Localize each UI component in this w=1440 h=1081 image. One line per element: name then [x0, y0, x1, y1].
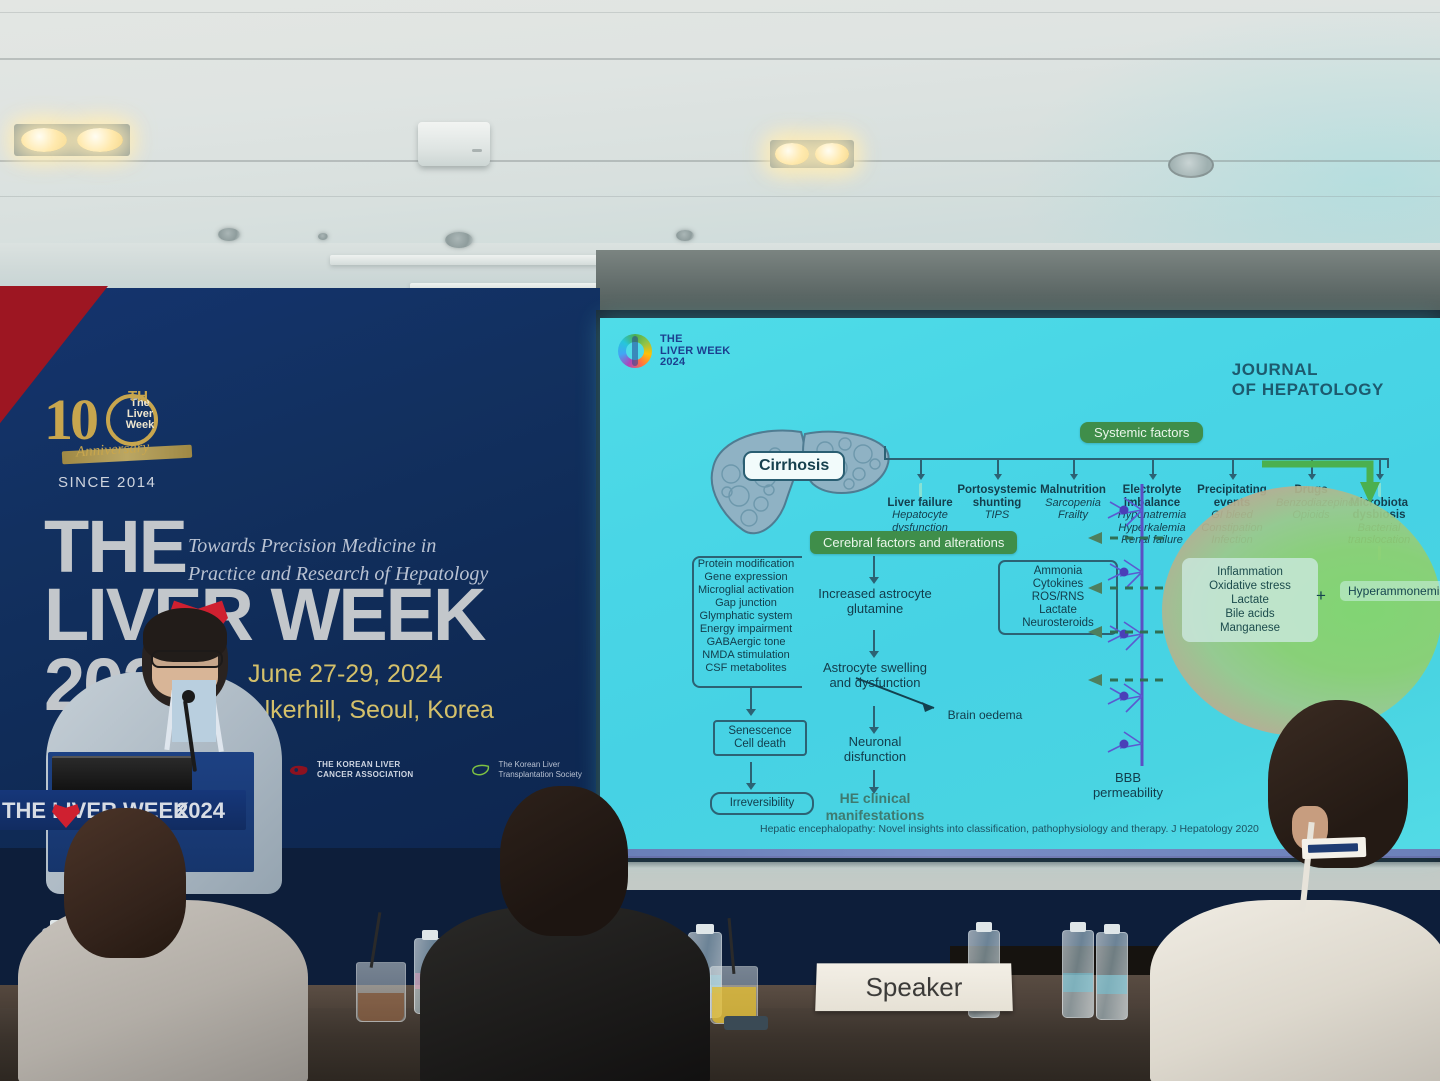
cerebral-factor-item: Gene expression: [686, 571, 806, 584]
eyeglasses-icon: [151, 650, 223, 668]
bbb-line2: permeability: [1093, 785, 1163, 800]
systemic-arrow-head: [917, 474, 925, 480]
senescence-line1: Senescence: [728, 725, 791, 737]
he-clinical-manifestations-node: HE clinical manifestations: [788, 790, 962, 824]
anniversary-logo: 10 The Liver Week TH Anniversary SINCE 2…: [44, 386, 214, 478]
cirrhotic-liver-icon: [705, 426, 895, 544]
slide-logo-text: THE LIVER WEEK 2024: [660, 334, 730, 369]
slide-logo-line2: LIVER WEEK: [660, 345, 730, 357]
podium-monitor: [52, 756, 192, 792]
ceiling-light-fixture: [14, 124, 130, 156]
anniversary-since: SINCE 2014: [58, 474, 156, 491]
brain-oedema-node: Brain oedema: [930, 708, 1040, 723]
liver-outline-icon: [470, 762, 492, 778]
systemic-factor-detail: TIPS: [956, 509, 1038, 522]
iced-drink-cup: [356, 962, 406, 1022]
downlight-icon: [676, 230, 694, 241]
systemic-factor-detail: Hepatocyte: [884, 509, 956, 522]
journal-attribution: JOURNAL OF HEPATOLOGY: [1232, 360, 1384, 400]
cerebral-factor-item: Microglial activation: [686, 584, 806, 597]
arrow-to-he-manifestations: [873, 770, 875, 788]
arrow-to-astrocyte-swelling: [873, 630, 875, 652]
smoke-detector-icon: [1168, 152, 1214, 178]
inner-factor-item: Oxidative stress: [1190, 579, 1310, 593]
water-bottle: [1096, 932, 1128, 1020]
node4-line2: manifestations: [826, 807, 925, 823]
systemic-factor-column: Portosystemic shuntingTIPS: [956, 484, 1038, 522]
cirrhosis-label: Cirrhosis: [743, 451, 845, 481]
speaker-table-sign: Speaker: [815, 963, 1013, 1011]
inner-factors-box: InflammationOxidative stressLactateBile …: [1182, 558, 1318, 642]
senescence-line2: Cell death: [734, 738, 786, 750]
slide-logo-line3: 2024: [660, 356, 685, 368]
systemic-arrow-stem: [1073, 460, 1075, 474]
cerebral-factor-item: Energy impairment: [686, 623, 806, 636]
cerebral-factor-item: Protein modification: [686, 558, 806, 571]
node3-line1: Neuronal: [849, 734, 902, 749]
node1-line1: Increased astrocyte: [818, 586, 931, 601]
systemic-factor-title: Portosystemic shunting: [956, 484, 1038, 509]
liver-week-mark-icon: [618, 334, 652, 368]
sponsor-line2: Transplantation Society: [499, 770, 582, 779]
systemic-arrow-stem: [997, 460, 999, 474]
liver-mark-icon: [288, 762, 310, 778]
systemic-arrow-stem: [1152, 460, 1154, 474]
ceiling-seam: [0, 12, 1440, 13]
systemic-arrow-head: [994, 474, 1002, 480]
journal-line2: OF HEPATOLOGY: [1232, 380, 1384, 399]
sponsor-line2: CANCER ASSOCIATION: [317, 770, 414, 779]
downlight-icon: [218, 228, 240, 241]
banner-subtitle: Towards Precision Medicine in Practice a…: [188, 532, 488, 588]
sponsor-line1: THE KOREAN LIVER: [317, 760, 400, 769]
podium-banner-year: 2024: [176, 798, 225, 824]
slide-logo-line1: THE: [660, 333, 683, 345]
plus-sign: +: [1316, 586, 1326, 606]
straw: [370, 912, 382, 968]
ceiling-seam: [0, 58, 1440, 60]
banner-date: June 27-29, 2024: [248, 660, 443, 689]
systemic-arrow-stem: [1232, 460, 1234, 474]
cerebral-factor-item: CSF metabolites: [686, 662, 806, 675]
systemic-arrow-head: [1229, 474, 1237, 480]
screenshot-root: 10 The Liver Week TH Anniversary SINCE 2…: [0, 0, 1440, 1081]
banner-subtitle-line1: Towards Precision Medicine in: [188, 535, 436, 557]
slide-citation: Hepatic encephalopathy: Novel insights i…: [760, 823, 1259, 835]
liver-illustration: [705, 426, 895, 544]
ceiling-speaker-box: [418, 122, 490, 166]
arrow-to-astrocyte-glutamine: [873, 556, 875, 578]
cerebral-factors-header: Cerebral factors and alterations: [810, 531, 1017, 554]
inner-factor-item: Manganese: [1190, 621, 1310, 635]
systemic-arrow-stem: [920, 460, 922, 474]
arrow-to-irreversibility: [750, 762, 752, 784]
smartphone: [724, 1016, 768, 1030]
node4-line1: HE clinical: [840, 790, 911, 806]
anniversary-ordinal: TH: [128, 388, 148, 405]
bbb-line1: BBB: [1115, 770, 1141, 785]
sponsor-label: THE KOREAN LIVER CANCER ASSOCIATION: [317, 760, 414, 780]
node3-line2: disfunction: [844, 749, 906, 764]
ceiling-seam: [0, 196, 1440, 197]
journal-line1: JOURNAL: [1232, 360, 1318, 379]
systemic-arrow-head: [1070, 474, 1078, 480]
water-bottle: [1062, 930, 1094, 1018]
microphone-head-icon: [182, 690, 195, 703]
sponsor-logo-klca: THE KOREAN LIVER CANCER ASSOCIATION: [288, 760, 414, 780]
bus-riser: [884, 446, 886, 460]
cerebral-factor-item: Gap junction: [686, 597, 806, 610]
cerebral-factor-item: NMDA stimulation: [686, 649, 806, 662]
sponsor-logo-klts: The Korean Liver Transplantation Society: [470, 760, 582, 780]
inner-factor-item: Lactate: [1190, 593, 1310, 607]
downlight-icon: [318, 233, 328, 240]
inner-factor-item: Inflammation: [1190, 565, 1310, 579]
sponsor-logo-row: THE KOREAN LIVER CANCER ASSOCIATION The …: [288, 760, 582, 780]
hyperammonemia-label: Hyperammonemia: [1340, 581, 1440, 601]
bbb-label: BBB permeability: [1068, 770, 1188, 800]
badge: [1302, 837, 1367, 859]
ceiling-light-fixture: [770, 140, 854, 168]
arrow-to-senescence: [750, 688, 752, 710]
cerebral-factor-list: Protein modificationGene expressionMicro…: [686, 558, 806, 675]
cerebral-factor-item: GABAergic tone: [686, 636, 806, 649]
slide-logo: THE LIVER WEEK 2024: [618, 334, 730, 369]
cerebral-factor-item: Glymphatic system: [686, 610, 806, 623]
downlight-icon: [445, 232, 473, 248]
systemic-factors-header: Systemic factors: [1080, 422, 1203, 443]
neuronal-disfunction-node: Neuronal disfunction: [796, 734, 954, 764]
systemic-factor-title: Liver failure: [884, 497, 956, 510]
sponsor-label: The Korean Liver Transplantation Society: [499, 760, 582, 780]
senescence-node: Senescence Cell death: [713, 720, 807, 756]
sponsor-line1: The Korean Liver: [499, 760, 560, 769]
banner-subtitle-line2: Practice and Research of Hepatology: [188, 563, 488, 585]
ceiling-seam: [0, 160, 1440, 162]
inner-factor-item: Bile acids: [1190, 607, 1310, 621]
speaker-sign-text: Speaker: [865, 972, 962, 1003]
node1-line2: glutamine: [847, 601, 903, 616]
banner-title-liver-week: LIVER WEEK: [44, 578, 484, 652]
increased-astrocyte-glutamine-node: Increased astrocyte glutamine: [796, 586, 954, 616]
